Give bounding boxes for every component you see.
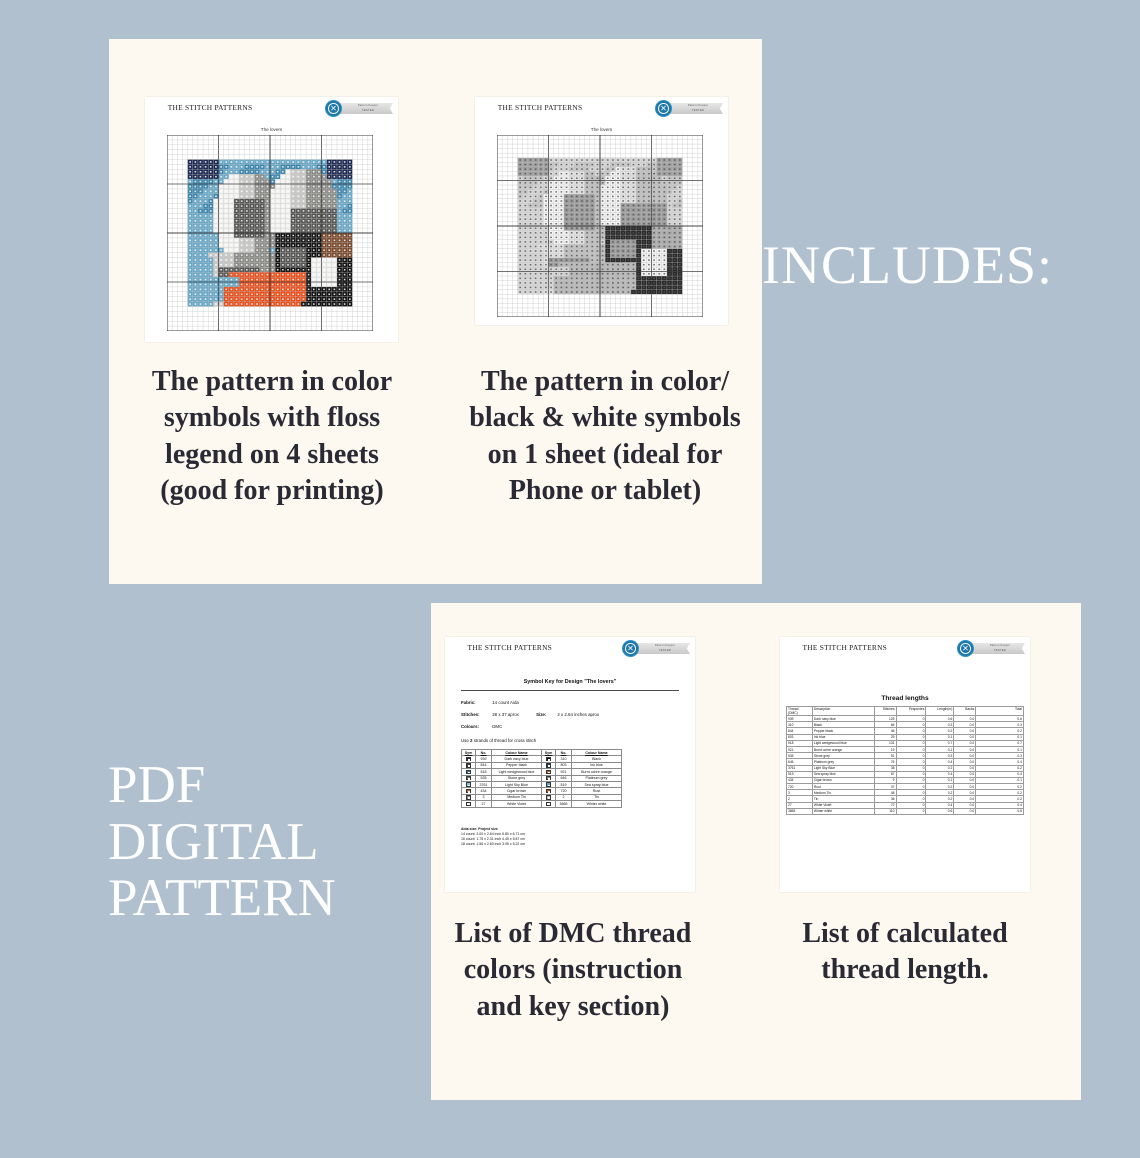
fabric-value: 14 count Aida (492, 700, 519, 705)
bw-chart-svg (497, 135, 703, 317)
colours-row: Colours: DMC (461, 724, 502, 729)
colours-value: DMC (492, 724, 502, 729)
symbol-swatch-icon (466, 789, 470, 793)
thread-lengths-table: Thread(DMC)DescriptionStitchesPespuntesL… (786, 706, 1024, 815)
pattern-keeper-badge: Pattern Keeper TESTED (622, 640, 690, 658)
sheet-thread-lengths[interactable]: THE STITCH PATTERNS Pattern Keeper TESTE… (780, 637, 1030, 892)
tl-col-header: Backs (954, 707, 976, 716)
pattern-keeper-badge: Pattern Keeper TESTED (957, 640, 1025, 658)
symbol-swatch-icon (466, 763, 470, 767)
pdf-line-3: PATTERN (108, 870, 418, 927)
sheet-header: THE STITCH PATTERNS Pattern Keeper TESTE… (780, 637, 1030, 663)
key-cell (542, 801, 556, 807)
badge-line2: TESTED (644, 648, 686, 652)
aida-size-block: Aida size: Project size 14 count: 2.00 x… (461, 827, 525, 847)
caption-bw-symbols: The pattern in color/ black & white symb… (469, 364, 741, 510)
symbol-swatch-icon (546, 795, 550, 799)
fabric-label: Fabric: (461, 700, 491, 705)
includes-headline: INCLUDES: (762, 238, 1122, 292)
x-circle-icon (957, 640, 974, 657)
tl-cell: 0.6 (976, 808, 1024, 814)
badge-line1: Pattern Keeper (979, 644, 1021, 647)
colours-label: Colours: (461, 724, 491, 729)
symbol-key-table: SymNo.Colour NameSymNo.Colour Name939Dar… (461, 749, 622, 808)
caption-thread-length: List of calculated thread length. (765, 916, 1045, 989)
stitches-row: Stitches: 28 x 37 aprox Size: 2 x 2.64 i… (461, 712, 599, 717)
tl-cell: 0.0 (954, 808, 976, 814)
sheet-color-symbol-chart[interactable]: THE STITCH PATTERNS Pattern Keeper TESTE… (145, 97, 398, 342)
x-circle-icon (622, 640, 639, 657)
tl-cell: Winter white (812, 808, 874, 814)
tl-col-header: Thread(DMC) (787, 707, 813, 716)
pdf-line-2: DIGITAL (108, 814, 418, 871)
symbol-swatch-icon (466, 770, 470, 774)
x-circle-icon (655, 100, 672, 117)
key-cell: Winter white (572, 801, 622, 807)
key-cell (462, 801, 476, 807)
badge-line2: TESTED (979, 648, 1021, 652)
chart-design-title: The lovers (145, 127, 398, 132)
strands-note: Use 2 strands of thread for cross stitch (461, 738, 536, 743)
aida-row-0: 14 count: 2.00 x 2.64 inch 5.80 x 6.71 c… (461, 832, 525, 836)
x-circle-icon (325, 100, 342, 117)
caption-color-symbols: The pattern in color symbols with floss … (147, 364, 397, 510)
symbol-swatch-icon (466, 802, 470, 806)
chart-design-title: The lovers (475, 127, 728, 132)
sheet-brand-title: THE STITCH PATTERNS (468, 643, 553, 652)
tl-cell: 3865 (787, 808, 813, 814)
badge-line2: TESTED (677, 108, 719, 112)
size-value: 2 x 2.64 inches aprox (557, 712, 599, 717)
badge-line2: TESTED (347, 108, 389, 112)
caption-dmc-list: List of DMC thread colors (instruction a… (453, 916, 693, 1025)
size-label: Size: (536, 712, 556, 717)
bottom-feature-panel: THE STITCH PATTERNS Pattern Keeper TESTE… (431, 603, 1081, 1100)
symbol-swatch-icon (546, 802, 550, 806)
seal-inner-ring (658, 103, 669, 114)
symbol-swatch-icon (546, 782, 550, 786)
symbol-swatch-icon (546, 757, 550, 761)
sheet-brand-title: THE STITCH PATTERNS (168, 103, 253, 112)
pdf-line-1: PDF (108, 757, 418, 814)
color-chart-grid (167, 135, 373, 331)
tl-col-header: Total (976, 707, 1024, 716)
symbol-key-title: Symbol Key for Design "The lovers" (445, 679, 695, 685)
symbol-swatch-icon (546, 789, 550, 793)
sheet-bw-symbol-chart[interactable]: THE STITCH PATTERNS Pattern Keeper TESTE… (475, 97, 728, 325)
tl-cell: 110 (874, 808, 896, 814)
seal-inner-ring (328, 103, 339, 114)
sheet-header: THE STITCH PATTERNS Pattern Keeper TESTE… (445, 637, 695, 663)
tl-cell: 0 (896, 808, 926, 814)
badge-line1: Pattern Keeper (677, 104, 719, 107)
strands-note-pre: Use (461, 738, 470, 743)
table-row: 27White Violet3865Winter white (462, 801, 622, 807)
tl-cell: 0.6 (926, 808, 954, 814)
pdf-digital-pattern-headline: PDF DIGITAL PATTERN (108, 757, 418, 927)
strands-note-post: strands of thread for cross stitch (472, 738, 536, 743)
seal-inner-ring (960, 643, 971, 654)
key-cell: 27 (476, 801, 492, 807)
pattern-keeper-badge: Pattern Keeper TESTED (655, 100, 723, 118)
tl-col-header: Description (812, 707, 874, 716)
title-divider (461, 690, 679, 691)
sheet-header: THE STITCH PATTERNS Pattern Keeper TESTE… (145, 97, 398, 123)
bw-chart-grid (497, 135, 703, 317)
fabric-row: Fabric: 14 count Aida (461, 700, 519, 705)
symbol-swatch-icon (466, 782, 470, 786)
symbol-swatch-icon (466, 776, 470, 780)
sheet-brand-title: THE STITCH PATTERNS (498, 103, 583, 112)
symbol-swatch-icon (546, 776, 550, 780)
tl-col-header: Length(m) (926, 707, 954, 716)
pattern-keeper-badge: Pattern Keeper TESTED (325, 100, 393, 118)
symbol-swatch-icon (466, 795, 470, 799)
symbol-swatch-icon (546, 770, 550, 774)
aida-row-1: 16 count: 1.75 x 2.31 inch 4.45 x 5.87 c… (461, 837, 525, 841)
sheet-brand-title: THE STITCH PATTERNS (803, 643, 888, 652)
key-cell: White Violet (492, 801, 542, 807)
stitches-label: Stitches: (461, 712, 491, 717)
badge-line1: Pattern Keeper (347, 104, 389, 107)
symbol-swatch-icon (466, 757, 470, 761)
badge-line1: Pattern Keeper (644, 644, 686, 647)
thread-lengths-title: Thread lengths (780, 695, 1030, 702)
tl-col-header: Stitches (874, 707, 896, 716)
aida-heading: Aida size: Project size (461, 827, 498, 831)
tl-col-header: Pespuntes (896, 707, 926, 716)
sheet-symbol-key[interactable]: THE STITCH PATTERNS Pattern Keeper TESTE… (445, 637, 695, 892)
aida-row-2: 18 count: 1.56 x 2.60 inch 3.95 x 5.22 c… (461, 842, 525, 846)
sheet-header: THE STITCH PATTERNS Pattern Keeper TESTE… (475, 97, 728, 123)
key-cell: 3865 (556, 801, 572, 807)
seal-inner-ring (625, 643, 636, 654)
color-chart-svg (167, 135, 373, 331)
table-row: 3865Winter white11000.60.00.6 (787, 808, 1024, 814)
top-feature-panel: THE STITCH PATTERNS Pattern Keeper TESTE… (109, 39, 762, 584)
stitches-value: 28 x 37 aprox (492, 712, 519, 717)
symbol-swatch-icon (546, 763, 550, 767)
